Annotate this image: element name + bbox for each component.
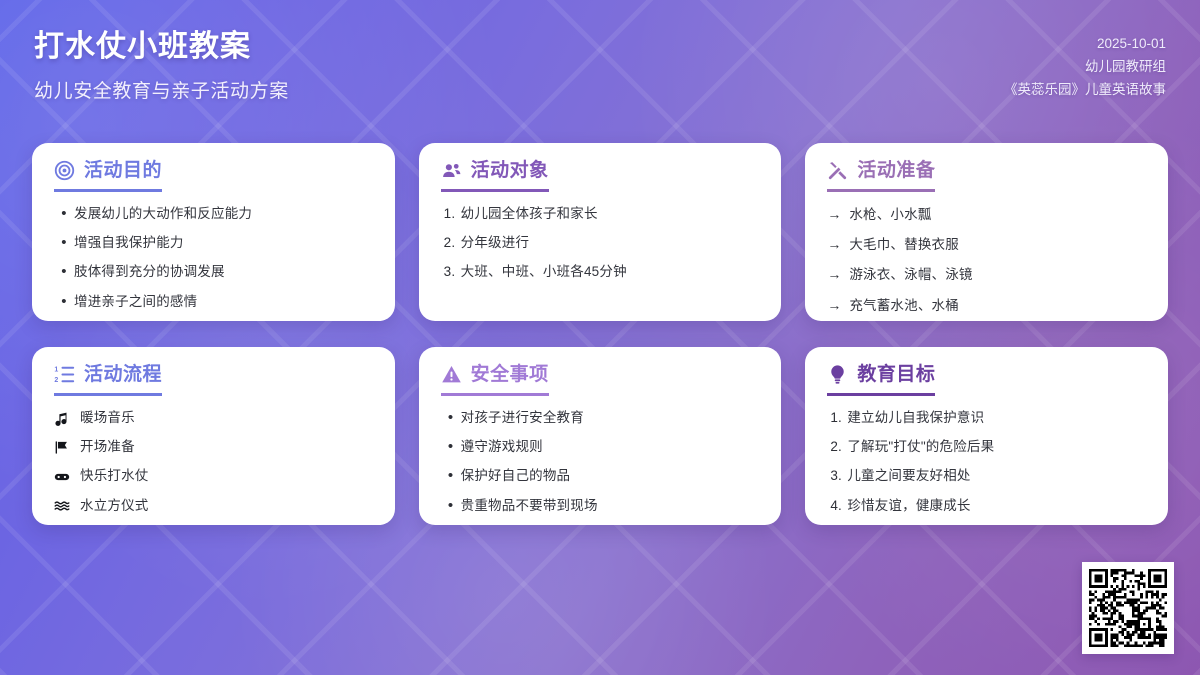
svg-text:2: 2: [54, 377, 58, 384]
list-item: 暖场音乐: [54, 409, 373, 427]
card-activity-audience: 活动对象1.幼儿园全体孩子和家长2.分年级进行3.大班、中班、小班各45分钟: [419, 143, 782, 321]
list-item: •增强自我保护能力: [54, 234, 373, 252]
list-item-text: 快乐打水仗: [80, 467, 149, 485]
list-item-text: 珍惜友谊，健康成长: [847, 497, 970, 515]
list-item: •肢体得到充分的协调发展: [54, 263, 373, 281]
list-number: 1.: [441, 205, 461, 223]
list-item-text: 分年级进行: [461, 234, 530, 252]
card-list-activity-purpose: •发展幼儿的大动作和反应能力•增强自我保护能力•肢体得到充分的协调发展•增进亲子…: [54, 205, 373, 311]
list-item: •遵守游戏规则: [441, 438, 760, 456]
card-title-label: 活动流程: [84, 365, 162, 384]
music-note-icon: [54, 411, 80, 426]
qr-code-image: [1089, 569, 1167, 647]
svg-text:1: 1: [54, 367, 58, 374]
card-title-education-goals: 教育目标: [827, 364, 935, 396]
card-title-label: 活动对象: [471, 161, 549, 180]
bullet-icon: •: [441, 468, 461, 483]
arrow-right-icon: →: [827, 205, 849, 224]
card-title-activity-preparation: 活动准备: [827, 160, 935, 192]
qr-code[interactable]: [1082, 562, 1174, 654]
card-title-label: 安全事项: [471, 365, 549, 384]
gamepad-icon: [54, 469, 80, 485]
list-item: 2.了解玩"打仗"的危险后果: [827, 438, 1146, 456]
users-icon: [441, 160, 462, 181]
page-title: 打水仗小班教案: [34, 28, 289, 66]
card-activity-purpose: 活动目的•发展幼儿的大动作和反应能力•增强自我保护能力•肢体得到充分的协调发展•…: [32, 143, 395, 321]
card-list-education-goals: 1.建立幼儿自我保护意识2.了解玩"打仗"的危险后果3.儿童之间要友好相处4.珍…: [827, 409, 1146, 515]
waves-icon: [54, 498, 80, 514]
list-item: •贵重物品不要带到现场: [441, 497, 760, 515]
list-item: 3.大班、中班、小班各45分钟: [441, 263, 760, 281]
list-item: →水枪、小水瓢: [827, 205, 1146, 224]
header-org: 幼儿园教研组: [1004, 55, 1166, 78]
list-item-text: 幼儿园全体孩子和家长: [461, 205, 598, 223]
card-title-activity-flow: 12活动流程: [54, 364, 162, 396]
list-item: 水立方仪式: [54, 497, 373, 515]
page-header: 打水仗小班教案 幼儿安全教育与亲子活动方案 2025-10-01 幼儿园教研组 …: [0, 0, 1200, 128]
list-item-text: 水立方仪式: [80, 497, 149, 515]
list-item-text: 儿童之间要友好相处: [847, 467, 970, 485]
header-meta: 2025-10-01 幼儿园教研组 《英蕊乐园》儿童英语故事: [1004, 0, 1166, 102]
tools-icon: [827, 160, 848, 181]
bullet-icon: •: [441, 410, 461, 425]
list-item-text: 游泳衣、泳帽、泳镜: [849, 266, 972, 284]
card-list-activity-flow: 暖场音乐开场准备快乐打水仗水立方仪式: [54, 409, 373, 515]
warning-triangle-icon: [441, 364, 462, 385]
list-item: →充气蓄水池、水桶: [827, 296, 1146, 315]
list-item: 2.分年级进行: [441, 234, 760, 252]
card-list-activity-audience: 1.幼儿园全体孩子和家长2.分年级进行3.大班、中班、小班各45分钟: [441, 205, 760, 282]
page-subtitle: 幼儿安全教育与亲子活动方案: [34, 76, 289, 103]
card-list-activity-preparation: →水枪、小水瓢→大毛巾、替换衣服→游泳衣、泳帽、泳镜→充气蓄水池、水桶: [827, 205, 1146, 315]
card-title-label: 教育目标: [857, 365, 935, 384]
card-title-label: 活动目的: [84, 161, 162, 180]
list-item: •发展幼儿的大动作和反应能力: [54, 205, 373, 223]
card-title-activity-purpose: 活动目的: [54, 160, 162, 192]
header-date: 2025-10-01: [1004, 32, 1166, 55]
list-number: 3.: [441, 263, 461, 281]
bullet-icon: •: [54, 206, 74, 221]
list-item-text: 大班、中班、小班各45分钟: [461, 263, 627, 281]
card-education-goals: 教育目标1.建立幼儿自我保护意识2.了解玩"打仗"的危险后果3.儿童之间要友好相…: [805, 347, 1168, 525]
bullet-icon: •: [54, 235, 74, 250]
arrow-right-icon: →: [827, 235, 849, 254]
list-item-text: 发展幼儿的大动作和反应能力: [74, 205, 252, 223]
list-number: 3.: [827, 467, 847, 485]
card-list-safety-notes: •对孩子进行安全教育•遵守游戏规则•保护好自己的物品•贵重物品不要带到现场: [441, 409, 760, 515]
list-item-text: 开场准备: [80, 438, 135, 456]
list-item-text: 增进亲子之间的感情: [74, 293, 197, 311]
list-item: •保护好自己的物品: [441, 467, 760, 485]
list-item-text: 建立幼儿自我保护意识: [847, 409, 984, 427]
list-item: •对孩子进行安全教育: [441, 409, 760, 427]
bullet-icon: •: [441, 498, 461, 513]
list-item-text: 对孩子进行安全教育: [461, 409, 584, 427]
target-icon: [54, 160, 75, 181]
card-grid: 活动目的•发展幼儿的大动作和反应能力•增强自我保护能力•肢体得到充分的协调发展•…: [32, 143, 1168, 525]
list-item-text: 贵重物品不要带到现场: [461, 497, 598, 515]
bullet-icon: •: [54, 294, 74, 309]
list-number: 2.: [827, 438, 847, 456]
list-item-text: 大毛巾、替换衣服: [849, 236, 959, 254]
card-title-activity-audience: 活动对象: [441, 160, 549, 192]
list-item: 快乐打水仗: [54, 467, 373, 485]
card-title-safety-notes: 安全事项: [441, 364, 549, 396]
list-item: 3.儿童之间要友好相处: [827, 467, 1146, 485]
arrow-right-icon: →: [827, 296, 849, 315]
bullet-icon: •: [54, 264, 74, 279]
list-item: →大毛巾、替换衣服: [827, 235, 1146, 254]
list-item: 1.幼儿园全体孩子和家长: [441, 205, 760, 223]
card-title-label: 活动准备: [857, 161, 935, 180]
list-number: 1.: [827, 409, 847, 427]
list-number: 2.: [441, 234, 461, 252]
list-item-text: 水枪、小水瓢: [849, 206, 931, 224]
lightbulb-icon: [827, 364, 848, 385]
header-source: 《英蕊乐园》儿童英语故事: [1004, 78, 1166, 101]
list-item-text: 暖场音乐: [80, 409, 135, 427]
list-item: →游泳衣、泳帽、泳镜: [827, 265, 1146, 284]
list-item: 开场准备: [54, 438, 373, 456]
list-number: 4.: [827, 497, 847, 515]
ordered-list-icon: 12: [54, 364, 75, 385]
card-activity-flow: 12活动流程暖场音乐开场准备快乐打水仗水立方仪式: [32, 347, 395, 525]
card-activity-preparation: 活动准备→水枪、小水瓢→大毛巾、替换衣服→游泳衣、泳帽、泳镜→充气蓄水池、水桶: [805, 143, 1168, 321]
bullet-icon: •: [441, 439, 461, 454]
list-item-text: 肢体得到充分的协调发展: [74, 263, 225, 281]
list-item-text: 了解玩"打仗"的危险后果: [847, 438, 994, 456]
list-item: 1.建立幼儿自我保护意识: [827, 409, 1146, 427]
card-safety-notes: 安全事项•对孩子进行安全教育•遵守游戏规则•保护好自己的物品•贵重物品不要带到现…: [419, 347, 782, 525]
list-item: 4.珍惜友谊，健康成长: [827, 497, 1146, 515]
list-item: •增进亲子之间的感情: [54, 293, 373, 311]
list-item-text: 保护好自己的物品: [461, 467, 571, 485]
list-item-text: 增强自我保护能力: [74, 234, 184, 252]
header-left: 打水仗小班教案 幼儿安全教育与亲子活动方案: [34, 0, 289, 103]
arrow-right-icon: →: [827, 265, 849, 284]
flag-icon: [54, 440, 80, 455]
list-item-text: 充气蓄水池、水桶: [849, 297, 959, 315]
list-item-text: 遵守游戏规则: [461, 438, 543, 456]
